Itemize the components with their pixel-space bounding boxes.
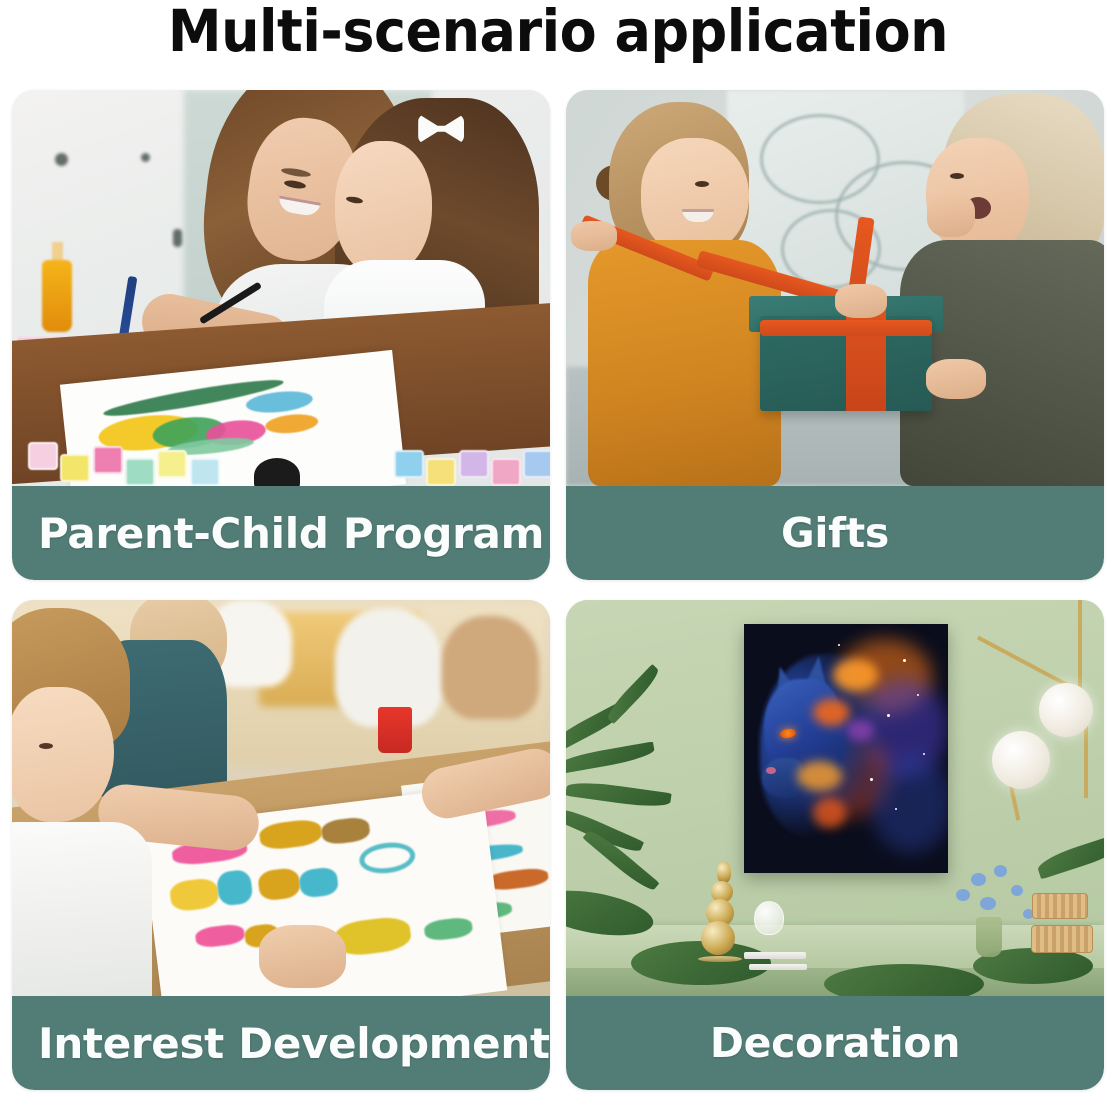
paint-stroke [320,816,371,846]
paint-stroke [486,867,550,892]
paint-pot [491,458,521,486]
flame-wisp [846,719,875,741]
card-label-bar: Gifts [566,486,1104,580]
flame-wisp [813,798,846,828]
lamp-globe [992,731,1050,789]
stacked-books [744,952,806,959]
lamp-rod [1078,600,1082,695]
girl-hand [835,284,887,318]
paint-outline [358,840,416,876]
scenario-grid: Parent-Child Program [12,90,1104,1090]
photo-parent-child-program [12,90,550,486]
paint-pot [157,450,187,478]
girl-hand [571,221,617,251]
flower-bloom [956,889,970,901]
wall-dot-icon [141,153,150,162]
paint-pot [523,450,550,478]
star-icon [887,714,890,717]
woman-hand [926,359,986,399]
scenario-card-interest-development[interactable]: Interest Development [12,600,550,1090]
paint-stroke [257,866,302,901]
foreground-boy-eye [39,743,53,749]
gift-ribbon-horizontal [760,320,932,336]
paint-pot [426,458,456,486]
paint-stroke [195,923,245,949]
paint-pot [60,454,90,482]
poster-root: Multi-scenario application [0,0,1116,1102]
brass-finial [717,861,731,883]
star-icon [838,644,840,646]
red-cup [378,707,412,753]
card-label-text: Gifts [781,509,889,557]
woven-basket [1031,925,1093,953]
palm-bush [824,964,984,996]
foreground-boy-apron [12,822,152,996]
drawing-stroke [264,412,319,435]
glass-cloche [754,901,784,935]
scenario-card-parent-child-program[interactable]: Parent-Child Program [12,90,550,580]
page-title: Multi-scenario application [39,0,1077,64]
paint-pot [125,458,155,486]
photo-gifts [566,90,1104,486]
card-label-text: Parent-Child Program [38,509,544,558]
paint-stroke [298,866,339,898]
galaxy-cat-artwork [744,624,948,873]
paint-stroke [423,916,473,942]
paint-pot [93,446,123,474]
card-label-bar: Decoration [566,996,1104,1090]
card-label-text: Decoration [710,1019,960,1067]
paint-pot [28,442,58,470]
paint-pot [459,450,489,478]
star-icon [903,659,906,662]
child-hand [259,925,345,988]
paint-stroke [168,876,219,912]
wall-dot-icon [55,153,68,166]
scenario-card-gifts[interactable]: Gifts [566,90,1104,580]
paint-pot [190,458,220,486]
paint-stroke [215,868,253,906]
flower-vase [976,917,1002,957]
paint-pot [394,450,424,478]
scenario-card-decoration[interactable]: Decoration [566,600,1104,1090]
paint-bottle [42,260,72,332]
card-label-bar: Interest Development [12,996,550,1090]
flame-wisp [813,699,850,726]
flame-wisp [797,761,842,791]
wall-dot-icon [173,229,182,247]
girl-face [641,138,749,257]
lamp-rod [1084,719,1088,798]
brass-ball [701,921,735,955]
stacked-books [749,964,807,970]
photo-interest-development [12,600,550,996]
flower-bloom [971,873,986,886]
paint-stroke [258,818,323,851]
background-child [442,616,539,719]
card-label-bar: Parent-Child Program [12,486,550,580]
card-label-text: Interest Development [38,1019,550,1068]
daughter-face [335,141,432,276]
photo-decoration [566,600,1104,996]
woven-basket [1032,893,1088,919]
palm-bush [631,941,771,985]
woman-hand [927,193,975,237]
